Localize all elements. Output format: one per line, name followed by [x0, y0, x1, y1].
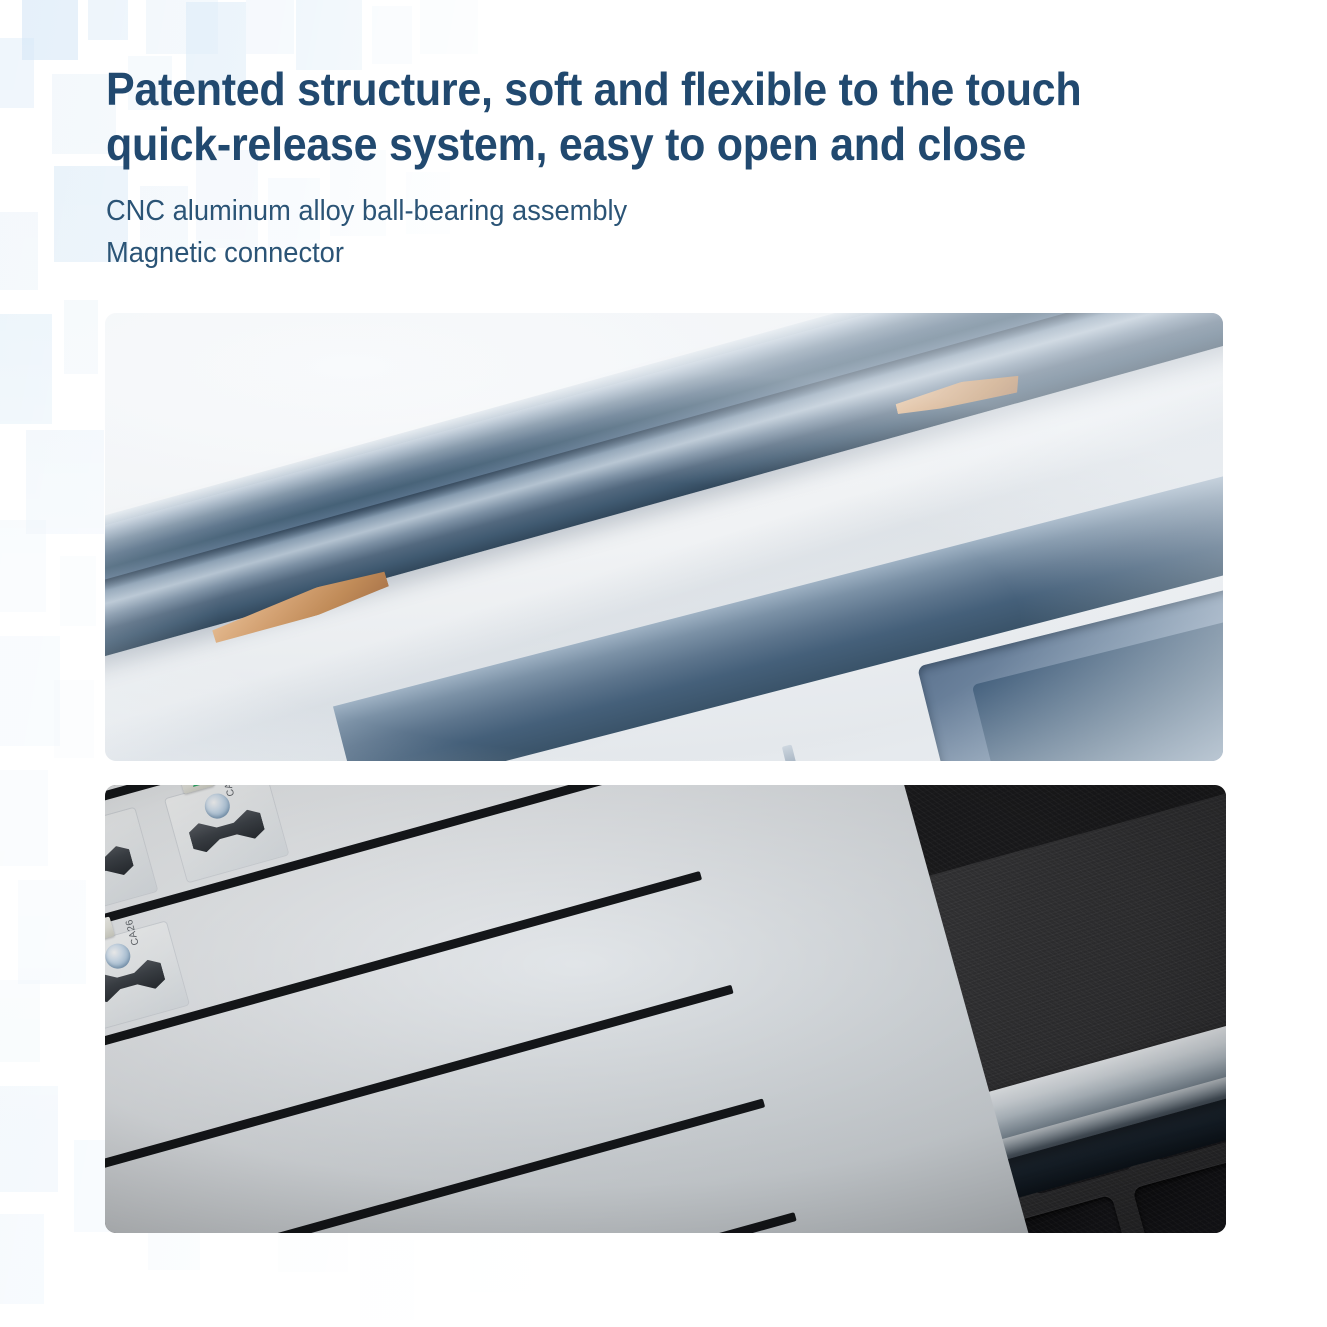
photo-aluminum-rail-closeup [105, 313, 1223, 761]
page-title: Patented structure, soft and flexible to… [106, 62, 1191, 172]
page-subtitle: CNC aluminum alloy ball-bearing assembly… [106, 190, 1196, 274]
header: Patented structure, soft and flexible to… [106, 62, 1266, 274]
depth-of-field-overlay [105, 313, 1223, 761]
photo-keyboard-pcb-foam-tray: D23 D9 [105, 785, 1226, 1233]
product-feature-page: Patented structure, soft and flexible to… [0, 0, 1327, 1327]
